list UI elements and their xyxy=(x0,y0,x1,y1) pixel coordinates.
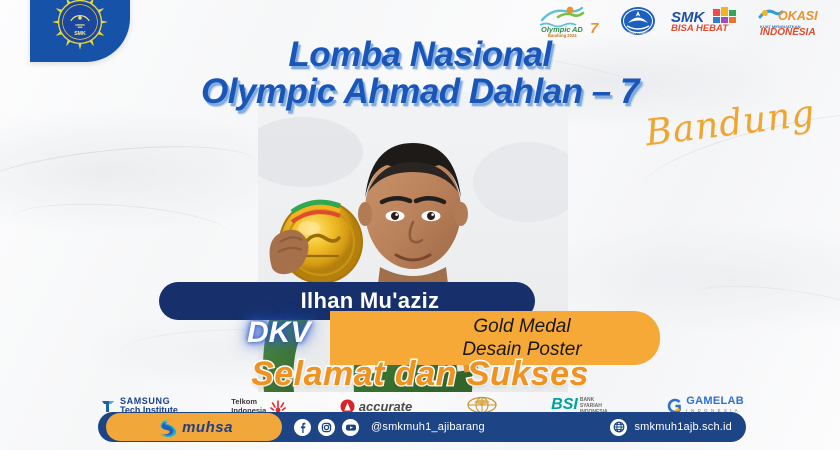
muhsa-s-mark xyxy=(155,417,177,437)
marble-vein xyxy=(0,134,262,225)
facebook-icon[interactable] xyxy=(294,419,311,436)
website-text[interactable]: smkmuh1ajb.sch.id xyxy=(634,421,732,433)
youtube-icon[interactable] xyxy=(342,419,359,436)
svg-text:TUT WURI HANDAYANI: TUT WURI HANDAYANI xyxy=(621,31,656,35)
sponsor-label: BSI xyxy=(551,397,578,412)
award-line-1: Gold Medal xyxy=(390,315,660,338)
svg-text:INDONESIA: INDONESIA xyxy=(760,27,816,37)
sponsor-label: GAMELAB xyxy=(686,397,744,406)
sponsor-label: Telkom xyxy=(231,397,266,406)
vokasi-indonesia-logo: OKASI KUAT MENGUATKAN INDONESIA xyxy=(758,4,832,38)
instagram-icon[interactable] xyxy=(318,419,335,436)
muhsa-brand-pill: muhsa xyxy=(106,413,282,441)
globe-icon[interactable] xyxy=(610,419,627,436)
svg-text:OKASI: OKASI xyxy=(778,9,818,23)
partner-logo-row: Olympic AD 7 Bandung 2024 TUT WURI HANDA… xyxy=(536,2,832,40)
school-badge-plate: SMK xyxy=(30,0,130,62)
sponsor-label: accurate xyxy=(359,402,412,411)
svg-text:BISA HEBAT: BISA HEBAT xyxy=(671,23,729,34)
marble-vein xyxy=(9,197,232,256)
footer-bar: muhsa @smkmuh1_ajibar xyxy=(98,412,746,442)
svg-text:7: 7 xyxy=(590,20,599,37)
olympic-ad-7-logo: Olympic AD 7 Bandung 2024 xyxy=(536,4,606,38)
muhsa-wordmark: muhsa xyxy=(182,419,233,436)
congratulations-text: Selamat dan Sukses xyxy=(0,355,840,394)
svg-text:SMK: SMK xyxy=(74,30,86,36)
website-group[interactable]: smkmuh1ajb.sch.id xyxy=(610,412,732,442)
poster-canvas: SMK Olympic AD 7 Bandung 2024 xyxy=(0,0,840,450)
department-tag: DKV xyxy=(247,316,310,350)
title-line-1: Lomba Nasional xyxy=(0,38,840,72)
social-handle-text[interactable]: @smkmuh1_ajibarang xyxy=(371,421,485,433)
smk-bisa-hebat-logo: SMK BISA HEBAT xyxy=(670,4,744,38)
marble-vein xyxy=(688,276,840,343)
muhammadiyah-sun-emblem: SMK xyxy=(51,0,109,51)
social-links-group[interactable]: @smkmuh1_ajibarang xyxy=(294,412,485,442)
city-script-label: Bandung xyxy=(644,93,818,154)
tut-wuri-handayani-logo: TUT WURI HANDAYANI xyxy=(620,4,656,38)
svg-text:Bandung 2024: Bandung 2024 xyxy=(548,33,577,38)
